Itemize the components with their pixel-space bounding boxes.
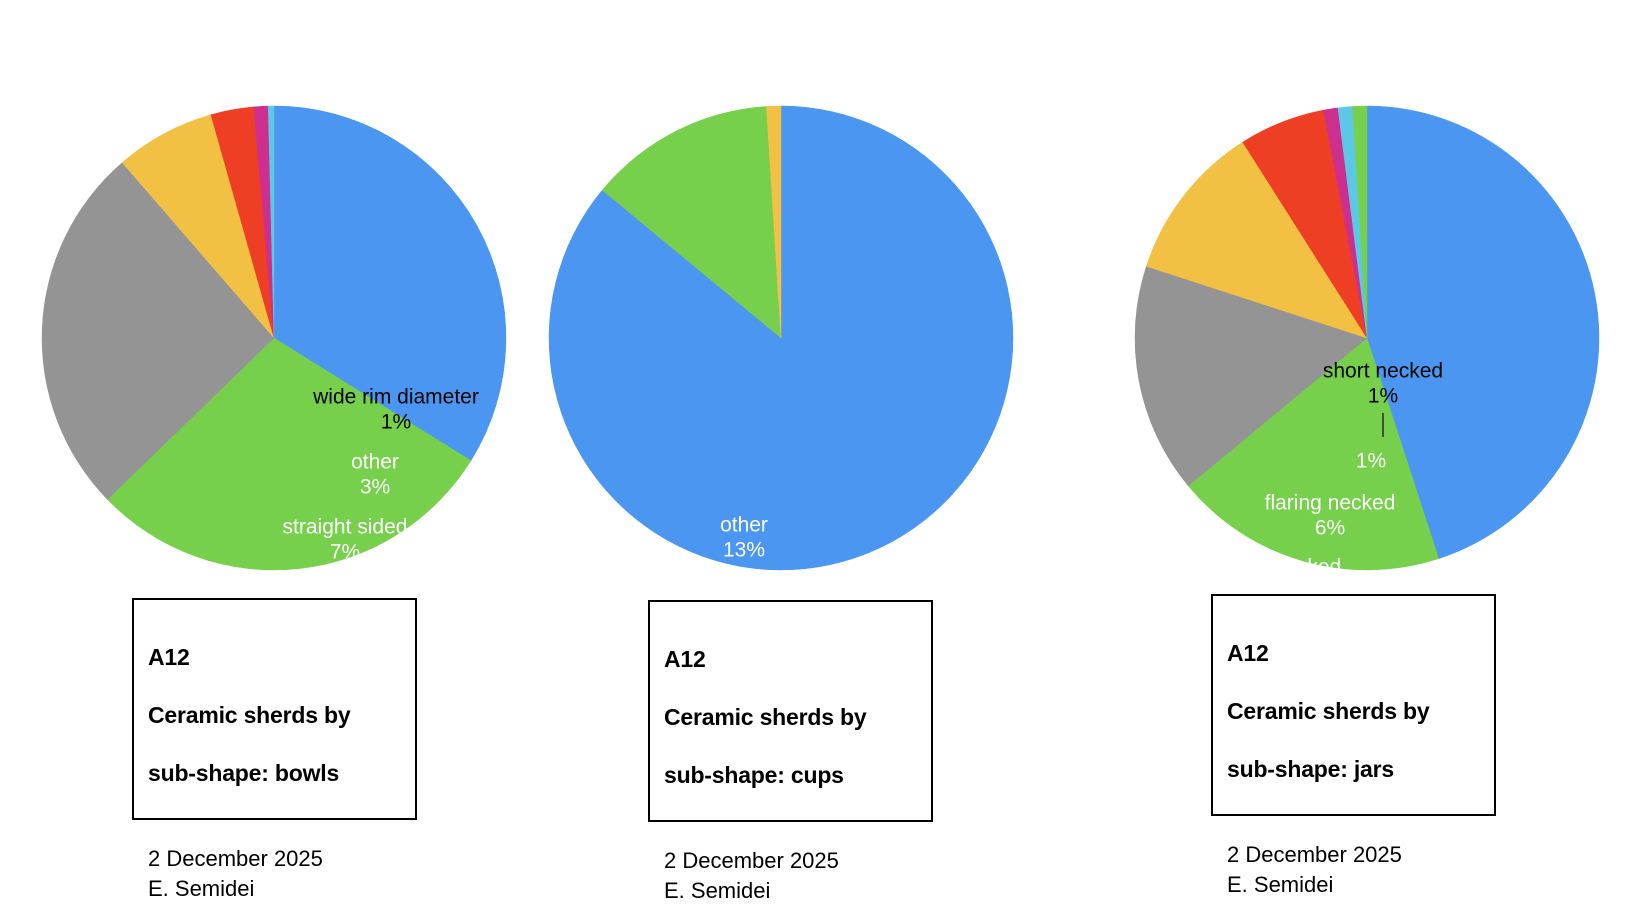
pie-slice-label: flaring necked [1265, 492, 1396, 515]
caption-meta-bowls: 2 December 2025 E. Semidei [148, 844, 399, 904]
pie-slice-value: 3% [360, 476, 390, 499]
pie-slice-value: 29% [402, 832, 444, 855]
caption-date: 2 December 2025 [1227, 840, 1478, 870]
pie-slice-label: short necked [1323, 360, 1443, 383]
pie-slice-value: 1% [381, 411, 411, 434]
caption-meta-cups: 2 December 2025 E. Semidei [664, 846, 915, 906]
pie-chart-jars: other45%necked19%hole mouth16%straight n… [1098, 0, 1646, 600]
pie-slice-label: wide rim diameter [312, 386, 479, 409]
caption-box-jars: A12 Ceramic sherds by sub-shape: jars 2 … [1211, 594, 1496, 816]
panel-bowls: carinated34%round sided29%deep26%straigh… [0, 0, 548, 878]
pie-chart-figure: carinated34%round sided29%deep26%straigh… [0, 0, 1646, 878]
panel-cups: conical86%other13% A12 Ceramic sherds by… [549, 0, 1097, 878]
pie-slices-bowls [42, 106, 506, 570]
caption-title-line2: sub-shape: cups [664, 761, 915, 790]
caption-author: E. Semidei [664, 876, 915, 906]
caption-code: A12 [1227, 639, 1478, 668]
pie-slices-cups [549, 106, 1013, 570]
caption-title-line1: Ceramic sherds by [664, 703, 915, 732]
pie-slice-value: 7% [330, 541, 360, 564]
pie-slice-label: other [1516, 630, 1564, 653]
pie-chart-bowls: carinated34%round sided29%deep26%straigh… [0, 0, 548, 600]
pie-slice-value: 13% [723, 539, 765, 562]
pie-area-jars: other45%necked19%hole mouth16%straight n… [1098, 0, 1646, 600]
caption-box-bowls: A12 Ceramic sherds by sub-shape: bowls 2… [132, 598, 417, 820]
caption-title-jars: A12 Ceramic sherds by sub-shape: jars [1227, 610, 1478, 813]
caption-title-cups: A12 Ceramic sherds by sub-shape: cups [664, 616, 915, 819]
caption-date: 2 December 2025 [664, 846, 915, 876]
pie-slice-value: 6% [1315, 517, 1345, 540]
caption-date: 2 December 2025 [148, 844, 399, 874]
pie-slice-label: straight sided [283, 516, 408, 539]
pie-area-cups: conical86%other13% [549, 0, 1097, 600]
pie-slice-value: 1% [1368, 385, 1398, 408]
caption-title-line2: sub-shape: bowls [148, 759, 399, 788]
pie-slice-label: other [351, 451, 399, 474]
pie-slice-value: 45% [1519, 655, 1561, 678]
caption-code: A12 [664, 645, 915, 674]
caption-title-line1: Ceramic sherds by [148, 701, 399, 730]
pie-area-bowls: carinated34%round sided29%deep26%straigh… [0, 0, 548, 600]
caption-meta-jars: 2 December 2025 E. Semidei [1227, 840, 1478, 900]
caption-box-cups: A12 Ceramic sherds by sub-shape: cups 2 … [648, 600, 933, 822]
pie-slice-label: other [720, 514, 768, 537]
pie-slice-label: straight necked [1199, 556, 1341, 579]
caption-title-line2: sub-shape: jars [1227, 755, 1478, 784]
caption-author: E. Semidei [1227, 870, 1478, 900]
caption-author: E. Semidei [148, 874, 399, 904]
caption-title-bowls: A12 Ceramic sherds by sub-shape: bowls [148, 614, 399, 817]
pie-slice-value: 1% [1356, 450, 1386, 473]
caption-title-line1: Ceramic sherds by [1227, 697, 1478, 726]
panel-jars: other45%necked19%hole mouth16%straight n… [1098, 0, 1646, 878]
pie-chart-cups: conical86%other13% [549, 0, 1097, 600]
caption-code: A12 [148, 643, 399, 672]
